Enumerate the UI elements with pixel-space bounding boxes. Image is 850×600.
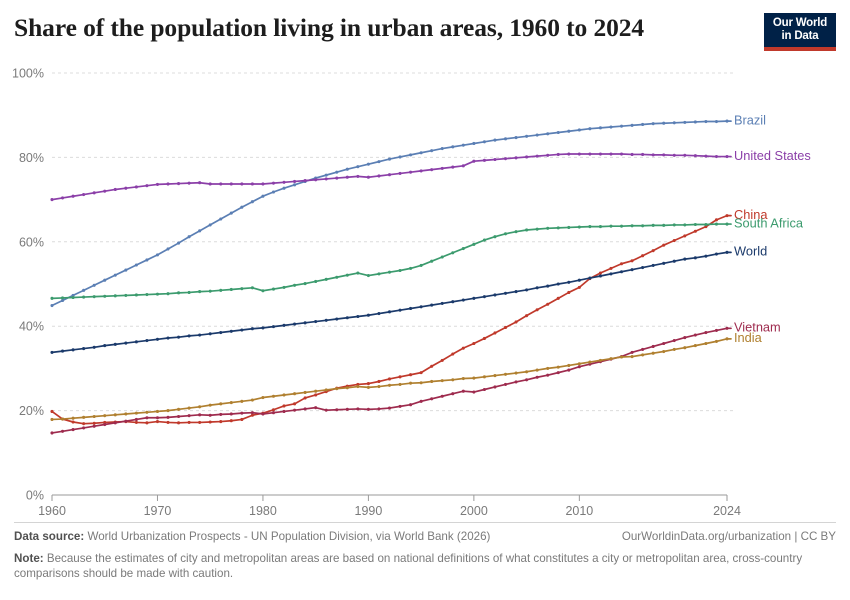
series-point[interactable] [198,334,201,337]
series-point[interactable] [314,280,317,283]
series-point[interactable] [504,137,507,140]
series-point[interactable] [620,355,623,358]
series-point[interactable] [557,371,560,374]
series-point[interactable] [430,365,433,368]
series-point[interactable] [483,337,486,340]
series-point[interactable] [694,223,697,226]
series-point[interactable] [135,263,138,266]
series-point[interactable] [251,200,254,203]
series-point[interactable] [50,297,53,300]
series-point[interactable] [493,235,496,238]
series-point[interactable] [578,365,581,368]
series-point[interactable] [377,380,380,383]
series-point[interactable] [209,182,212,185]
series-point[interactable] [135,412,138,415]
series-point[interactable] [641,123,644,126]
series-point[interactable] [578,279,581,282]
series-point[interactable] [462,247,465,250]
series-point[interactable] [430,168,433,171]
series-point[interactable] [156,420,159,423]
series-point[interactable] [251,182,254,185]
series-point[interactable] [472,160,475,163]
series-point[interactable] [135,293,138,296]
series-point[interactable] [398,172,401,175]
series-point[interactable] [683,346,686,349]
series-point[interactable] [346,386,349,389]
series-point[interactable] [683,223,686,226]
series-point[interactable] [293,284,296,287]
series-point[interactable] [335,387,338,390]
series-point[interactable] [219,331,222,334]
series-point[interactable] [377,160,380,163]
series-point[interactable] [314,178,317,181]
series-point[interactable] [609,267,612,270]
series-point[interactable] [103,295,106,298]
series-point[interactable] [325,388,328,391]
series-point[interactable] [272,182,275,185]
series-point[interactable] [525,288,528,291]
series-point[interactable] [356,407,359,410]
series-point[interactable] [346,316,349,319]
series-point[interactable] [536,369,539,372]
series-point[interactable] [356,175,359,178]
series-point[interactable] [388,158,391,161]
series-point[interactable] [335,276,338,279]
series-point[interactable] [609,125,612,128]
series-point[interactable] [673,154,676,157]
series-point[interactable] [673,339,676,342]
series-point[interactable] [409,267,412,270]
series-point[interactable] [694,230,697,233]
series-point[interactable] [230,288,233,291]
series-point[interactable] [715,340,718,343]
series-point[interactable] [504,383,507,386]
series-point[interactable] [609,225,612,228]
series-point[interactable] [504,232,507,235]
series-point[interactable] [662,224,665,227]
series-point[interactable] [124,420,127,423]
series-point[interactable] [673,223,676,226]
series-point[interactable] [451,166,454,169]
series-point[interactable] [493,385,496,388]
series-point[interactable] [462,298,465,301]
series-point[interactable] [272,411,275,414]
series-point[interactable] [441,167,444,170]
series-point[interactable] [704,120,707,123]
series-point[interactable] [515,371,518,374]
series-point[interactable] [546,154,549,157]
series-point[interactable] [451,392,454,395]
series-point[interactable] [50,410,53,413]
series-line-world[interactable] [52,252,727,352]
series-point[interactable] [715,155,718,158]
series-point[interactable] [673,121,676,124]
series-point[interactable] [124,342,127,345]
series-point[interactable] [50,351,53,354]
series-point[interactable] [483,375,486,378]
series-point[interactable] [61,196,64,199]
series-point[interactable] [599,271,602,274]
series-point[interactable] [188,407,191,410]
series-point[interactable] [367,382,370,385]
series-point[interactable] [261,396,264,399]
series-point[interactable] [230,182,233,185]
series-point[interactable] [188,291,191,294]
series-point[interactable] [219,413,222,416]
series-point[interactable] [282,393,285,396]
owid-logo[interactable]: Our World in Data [764,13,836,51]
series-point[interactable] [546,367,549,370]
series-point[interactable] [93,346,96,349]
series-point[interactable] [493,374,496,377]
series-point[interactable] [567,130,570,133]
series-point[interactable] [662,342,665,345]
series-point[interactable] [93,284,96,287]
series-point[interactable] [346,408,349,411]
series-point[interactable] [293,180,296,183]
series-point[interactable] [588,127,591,130]
series-point[interactable] [641,224,644,227]
series-point[interactable] [198,290,201,293]
series-point[interactable] [683,336,686,339]
series-point[interactable] [145,258,148,261]
series-point[interactable] [715,223,718,226]
series-point[interactable] [124,294,127,297]
series-point[interactable] [641,348,644,351]
chart-plot-area[interactable]: 0%20%40%60%80%100% 196019701980199020002… [0,60,850,520]
series-point[interactable] [367,176,370,179]
series-point[interactable] [388,377,391,380]
series-point[interactable] [620,125,623,128]
series-point[interactable] [145,339,148,342]
series-point[interactable] [557,297,560,300]
series-point[interactable] [261,289,264,292]
series-point[interactable] [177,182,180,185]
owid-url-link[interactable]: OurWorldinData.org/urbanization | CC BY [622,529,836,544]
series-point[interactable] [599,152,602,155]
series-point[interactable] [219,402,222,405]
series-point[interactable] [209,290,212,293]
series-point[interactable] [578,128,581,131]
series-point[interactable] [409,373,412,376]
series-point[interactable] [114,421,117,424]
series-point[interactable] [388,407,391,410]
series-point[interactable] [441,395,444,398]
series-point[interactable] [652,153,655,156]
data-series[interactable] [50,120,728,435]
series-point[interactable] [72,348,75,351]
legend-label-brazil[interactable]: Brazil [734,112,766,127]
series-point[interactable] [82,193,85,196]
series-point[interactable] [715,218,718,221]
series-point[interactable] [578,225,581,228]
series-point[interactable] [367,314,370,317]
series-point[interactable] [631,153,634,156]
series-line-china[interactable] [52,216,727,424]
series-point[interactable] [557,282,560,285]
series-point[interactable] [82,296,85,299]
series-point[interactable] [673,260,676,263]
series-point[interactable] [546,374,549,377]
series-point[interactable] [409,153,412,156]
series-point[interactable] [472,342,475,345]
series-point[interactable] [462,390,465,393]
series-point[interactable] [346,168,349,171]
series-point[interactable] [272,325,275,328]
series-point[interactable] [325,177,328,180]
series-point[interactable] [314,393,317,396]
series-point[interactable] [420,169,423,172]
series-point[interactable] [346,274,349,277]
series-point[interactable] [557,153,560,156]
series-point[interactable] [588,225,591,228]
series-point[interactable] [536,228,539,231]
series-point[interactable] [620,262,623,265]
series-point[interactable] [82,426,85,429]
series-point[interactable] [219,182,222,185]
series-point[interactable] [388,271,391,274]
series-point[interactable] [93,295,96,298]
series-point[interactable] [683,234,686,237]
series-point[interactable] [694,344,697,347]
series-point[interactable] [325,174,328,177]
series-point[interactable] [304,179,307,182]
series-point[interactable] [251,327,254,330]
series-point[interactable] [198,421,201,424]
series-point[interactable] [504,326,507,329]
series-point[interactable] [72,420,75,423]
series-point[interactable] [483,159,486,162]
series-point[interactable] [493,293,496,296]
series-point[interactable] [609,152,612,155]
series-point[interactable] [367,163,370,166]
series-point[interactable] [683,121,686,124]
series-point[interactable] [662,262,665,265]
series-point[interactable] [230,419,233,422]
series-point[interactable] [462,377,465,380]
series-point[interactable] [620,225,623,228]
series-point[interactable] [177,242,180,245]
series-point[interactable] [209,223,212,226]
series-point[interactable] [219,217,222,220]
series-point[interactable] [272,190,275,193]
series-point[interactable] [335,177,338,180]
series-point[interactable] [493,139,496,142]
series-point[interactable] [451,353,454,356]
series-point[interactable] [251,399,254,402]
series-point[interactable] [282,286,285,289]
series-point[interactable] [388,384,391,387]
series-point[interactable] [82,416,85,419]
series-point[interactable] [599,274,602,277]
series-point[interactable] [188,235,191,238]
series-point[interactable] [398,155,401,158]
series-point[interactable] [472,390,475,393]
series-point[interactable] [135,421,138,424]
series-point[interactable] [588,361,591,364]
series-point[interactable] [578,286,581,289]
series-point[interactable] [462,347,465,350]
series-line-united-states[interactable] [52,154,727,200]
series-point[interactable] [441,255,444,258]
series-point[interactable] [588,152,591,155]
series-point[interactable] [715,120,718,123]
series-point[interactable] [93,191,96,194]
series-point[interactable] [114,294,117,297]
series-point[interactable] [314,320,317,323]
series-point[interactable] [219,289,222,292]
series-point[interactable] [515,290,518,293]
series-point[interactable] [536,155,539,158]
series-point[interactable] [515,136,518,139]
series-point[interactable] [240,206,243,209]
series-point[interactable] [177,415,180,418]
legend-label-united-states[interactable]: United States [734,148,811,163]
series-point[interactable] [493,158,496,161]
series-point[interactable] [50,431,53,434]
series-point[interactable] [177,291,180,294]
series-point[interactable] [409,403,412,406]
series-point[interactable] [209,414,212,417]
series-point[interactable] [304,407,307,410]
series-legend[interactable]: BrazilUnited StatesChinaSouth AfricaWorl… [727,112,811,345]
series-point[interactable] [631,259,634,262]
series-point[interactable] [188,414,191,417]
series-point[interactable] [50,198,53,201]
series-point[interactable] [166,292,169,295]
series-point[interactable] [293,183,296,186]
series-point[interactable] [166,336,169,339]
series-point[interactable] [441,302,444,305]
series-point[interactable] [198,413,201,416]
series-point[interactable] [536,133,539,136]
series-point[interactable] [493,331,496,334]
series-point[interactable] [420,400,423,403]
series-point[interactable] [673,239,676,242]
series-point[interactable] [704,255,707,258]
series-point[interactable] [420,264,423,267]
series-point[interactable] [462,144,465,147]
series-point[interactable] [135,340,138,343]
series-point[interactable] [536,376,539,379]
series-point[interactable] [282,181,285,184]
series-point[interactable] [430,397,433,400]
series-point[interactable] [166,182,169,185]
series-point[interactable] [599,225,602,228]
series-point[interactable] [156,293,159,296]
series-point[interactable] [82,347,85,350]
series-point[interactable] [93,415,96,418]
series-point[interactable] [441,147,444,150]
series-point[interactable] [72,195,75,198]
series-point[interactable] [662,244,665,247]
series-point[interactable] [177,421,180,424]
series-point[interactable] [420,371,423,374]
legend-label-india[interactable]: India [734,330,763,345]
series-point[interactable] [145,416,148,419]
series-point[interactable] [304,321,307,324]
series-point[interactable] [588,277,591,280]
series-point[interactable] [261,326,264,329]
series-point[interactable] [272,288,275,291]
series-point[interactable] [451,300,454,303]
series-point[interactable] [240,328,243,331]
series-point[interactable] [662,122,665,125]
series-point[interactable] [704,155,707,158]
series-point[interactable] [304,396,307,399]
series-point[interactable] [230,412,233,415]
series-point[interactable] [240,287,243,290]
series-point[interactable] [430,304,433,307]
series-point[interactable] [631,351,634,354]
series-point[interactable] [546,285,549,288]
series-point[interactable] [304,282,307,285]
series-point[interactable] [557,366,560,369]
series-point[interactable] [356,271,359,274]
series-point[interactable] [325,409,328,412]
series-point[interactable] [420,151,423,154]
series-point[interactable] [198,405,201,408]
series-point[interactable] [282,410,285,413]
series-point[interactable] [599,359,602,362]
series-point[interactable] [631,124,634,127]
series-point[interactable] [694,334,697,337]
series-point[interactable] [240,418,243,421]
series-point[interactable] [694,154,697,157]
series-point[interactable] [230,212,233,215]
legend-label-south-africa[interactable]: South Africa [734,215,804,230]
series-point[interactable] [166,409,169,412]
series-point[interactable] [61,296,64,299]
series-point[interactable] [103,423,106,426]
series-point[interactable] [631,224,634,227]
series-point[interactable] [683,258,686,261]
series-point[interactable] [367,274,370,277]
series-point[interactable] [546,227,549,230]
series-point[interactable] [377,312,380,315]
series-point[interactable] [567,152,570,155]
series-point[interactable] [515,320,518,323]
series-point[interactable] [525,228,528,231]
series-point[interactable] [652,264,655,267]
series-point[interactable] [314,390,317,393]
series-point[interactable] [282,187,285,190]
series-point[interactable] [335,317,338,320]
series-point[interactable] [483,239,486,242]
series-point[interactable] [567,369,570,372]
series-point[interactable] [156,338,159,341]
series-point[interactable] [704,342,707,345]
series-point[interactable] [103,279,106,282]
series-point[interactable] [430,260,433,263]
series-point[interactable] [82,422,85,425]
series-point[interactable] [145,411,148,414]
series-point[interactable] [673,348,676,351]
series-point[interactable] [641,266,644,269]
series-point[interactable] [694,256,697,259]
series-point[interactable] [335,171,338,174]
series-point[interactable] [177,408,180,411]
series-point[interactable] [631,355,634,358]
series-line-vietnam[interactable] [52,328,727,433]
series-point[interactable] [525,314,528,317]
series-point[interactable] [388,173,391,176]
series-point[interactable] [557,226,560,229]
series-point[interactable] [515,230,518,233]
series-point[interactable] [103,344,106,347]
series-point[interactable] [367,386,370,389]
series-point[interactable] [293,409,296,412]
